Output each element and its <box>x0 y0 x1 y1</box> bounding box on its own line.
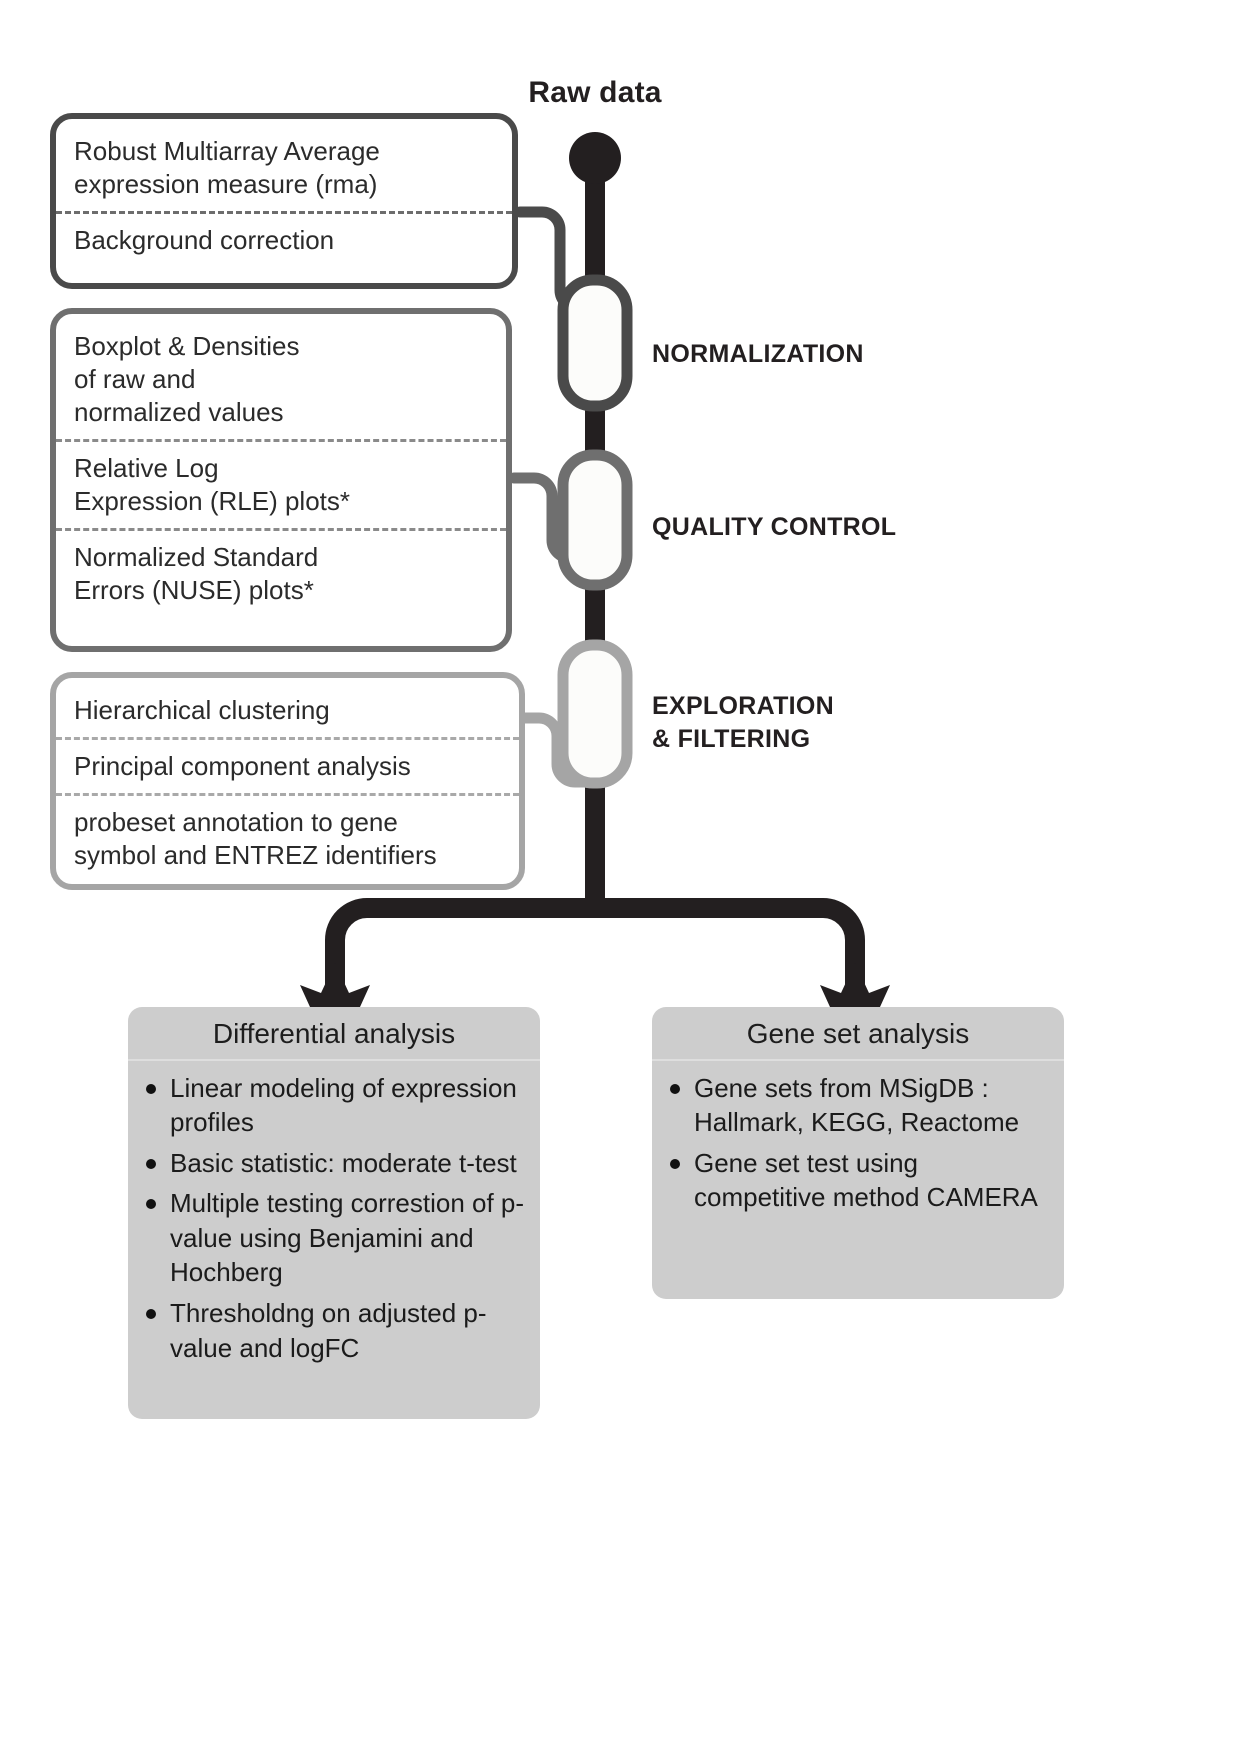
stage-label-quality-control: QUALITY CONTROL <box>652 511 896 544</box>
panel-row: Boxplot & Densities of raw and normalize… <box>56 320 506 439</box>
panel-row: Principal component analysis <box>56 737 519 793</box>
stage-capsule-exploration <box>563 645 627 783</box>
list-item: Multiple testing correstion of p-value u… <box>144 1186 526 1290</box>
panel-row: Hierarchical clustering <box>56 684 519 737</box>
raw-data-node <box>569 132 621 184</box>
panel-row: probeset annotation to gene symbol and E… <box>56 793 519 882</box>
panel-row: Background correction <box>56 211 512 267</box>
list-item: Gene set test using competitive method C… <box>668 1146 1050 1215</box>
panel-normalization: Robust Multiarray Average expression mea… <box>50 113 518 289</box>
list-item: Thresholdng on adjusted p-value and logF… <box>144 1296 526 1365</box>
panel-quality-control: Boxplot & Densities of raw and normalize… <box>50 308 512 652</box>
card-title: Differential analysis <box>128 1007 540 1061</box>
panel-row: Robust Multiarray Average expression mea… <box>56 125 512 211</box>
list-item: Basic statistic: moderate t-test <box>144 1146 526 1181</box>
stage-capsule-normalization <box>563 280 627 406</box>
panel-row: Normalized Standard Errors (NUSE) plots* <box>56 528 506 617</box>
card-bullet-list: Gene sets from MSigDB : Hallmark, KEGG, … <box>652 1061 1064 1237</box>
branch-connector <box>335 908 855 985</box>
flowchart-diagram: Raw data NORMALIZATION QUALITY CONTROL E… <box>0 0 1240 1753</box>
panel-exploration-filtering: Hierarchical clustering Principal compon… <box>50 672 525 890</box>
stage-label-exploration-filtering: EXPLORATION & FILTERING <box>652 690 834 756</box>
card-title: Gene set analysis <box>652 1007 1064 1061</box>
page-title: Raw data <box>455 76 735 110</box>
panel-row: Relative Log Expression (RLE) plots* <box>56 439 506 528</box>
list-item: Gene sets from MSigDB : Hallmark, KEGG, … <box>668 1071 1050 1140</box>
stage-label-normalization: NORMALIZATION <box>652 338 864 371</box>
stage-capsule-quality-control <box>563 455 627 585</box>
card-differential-analysis: Differential analysis Linear modeling of… <box>128 1007 540 1419</box>
list-item: Linear modeling of expression profiles <box>144 1071 526 1140</box>
card-bullet-list: Linear modeling of expression profiles B… <box>128 1061 540 1388</box>
card-gene-set-analysis: Gene set analysis Gene sets from MSigDB … <box>652 1007 1064 1299</box>
